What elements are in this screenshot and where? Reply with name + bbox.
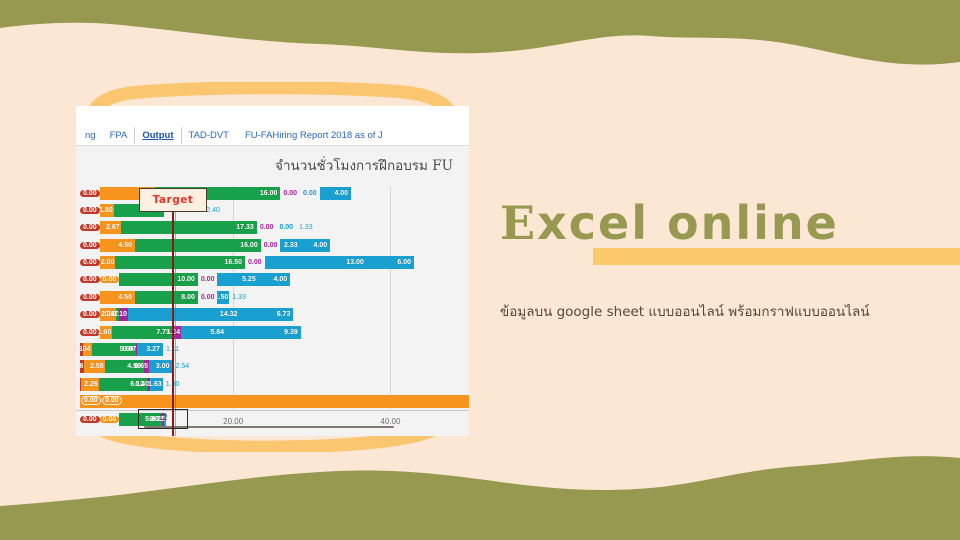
bar-value-label: 0.00 [80, 294, 100, 301]
bar-value-label: 0.00 [80, 242, 100, 249]
bar-segment[interactable] [80, 395, 469, 408]
bar-segment[interactable]: 1.04 [83, 343, 91, 356]
bar-value-label: 0.00 [245, 259, 265, 266]
bar-value-label: 0.00 [80, 190, 100, 197]
bar-segment[interactable]: 10.00 [119, 273, 198, 286]
bar-segment[interactable]: 3.00 [149, 360, 173, 373]
bar-value-label: 0.00 [81, 396, 101, 405]
bar-segment[interactable]: 2.67 [100, 221, 121, 234]
title-highlight-stroke [593, 248, 960, 265]
bar-value-label: 16.50 [225, 259, 246, 266]
bar-segment[interactable]: 3.27 [137, 343, 163, 356]
chart-title: จำนวนชั่วโมงการฝึกอบรม FU [275, 154, 453, 176]
excel-screenshot[interactable]: ng FPA Output TAD-DVT FU-FAHiring Report… [76, 106, 469, 436]
target-line-secondary [175, 212, 176, 436]
bar-value-label: 0.00 [280, 190, 300, 197]
bar-segment[interactable]: 16.00 [135, 239, 261, 252]
chart-bar-row[interactable]: 0.052.266.120.401.631.80 [80, 377, 469, 391]
bar-segment[interactable]: 1.10 [119, 308, 128, 321]
bar-value-label: 4.00 [274, 276, 291, 283]
bar-segment[interactable]: 2.58 [84, 360, 104, 373]
bar-value-label: 0.00 [80, 224, 100, 231]
bar-value-label: 0.00 [198, 276, 218, 283]
bar-segment[interactable]: 17.33 [121, 221, 257, 234]
bar-value-label: 0.00 [100, 276, 120, 283]
target-line [172, 212, 174, 436]
bar-value-label: 5.25 [242, 276, 259, 283]
bar-segment[interactable]: 5.84 [181, 326, 227, 339]
bar-segment[interactable]: 1.63 [150, 378, 163, 391]
bar-segment[interactable]: 7.73 [112, 326, 173, 339]
bar-value-label: 4.50 [118, 294, 135, 301]
sheet-tab-output[interactable]: Output [134, 127, 181, 144]
bar-segment[interactable]: 14.32 [128, 308, 241, 321]
bar-value-label: 6.00 [397, 259, 414, 266]
axis-selection-value: 12 [159, 413, 168, 422]
bar-segment[interactable]: 4.50 [100, 291, 135, 304]
bar-segment[interactable]: 1.50 [217, 291, 229, 304]
bar-segment[interactable]: 16.50 [115, 256, 245, 269]
bar-value-label: 1.50 [215, 294, 232, 301]
bar-segment[interactable]: 4.00 [299, 239, 330, 252]
bar-value-label: 0.00 [102, 396, 122, 405]
sheet-tab-fu-fahiring-report[interactable]: FU-FAHiring Report 2018 as of J [236, 127, 390, 144]
bar-value-label: 0.00 [80, 276, 100, 283]
bar-value-label: 5.84 [210, 329, 227, 336]
bar-value-label: 16.00 [240, 242, 261, 249]
sheet-tab-bar[interactable]: ng FPA Output TAD-DVT FU-FAHiring Report… [76, 125, 469, 146]
bar-value-label: 1.11 [163, 346, 179, 353]
bar-value-label: 10.00 [177, 276, 198, 283]
target-label: Target [153, 194, 194, 206]
axis-selection-box[interactable]: 12 [138, 409, 188, 429]
bar-value-label: 13.00 [346, 259, 367, 266]
bar-value-label: 0.00 [80, 259, 100, 266]
target-callout[interactable]: Target [139, 188, 207, 212]
bar-segment[interactable]: 4.50 [100, 239, 135, 252]
chart-bar-row[interactable]: 0.431.045.690.073.271.11 [80, 343, 469, 357]
window-top-strip [76, 106, 469, 125]
bar-value-label: 9.39 [284, 329, 301, 336]
chart-bar-rows[interactable]: 0.007.0016.000.000.004.000.001.806.400.0… [80, 186, 469, 410]
bar-value-label: 0.00 [80, 311, 100, 318]
bar-segment[interactable]: 6.73 [240, 308, 293, 321]
sheet-tab-tad-dvt[interactable]: TAD-DVT [182, 127, 236, 144]
title-rest: xcel online [537, 196, 839, 250]
right-text-column: Excel online ข้อมูลบน google sheet แบบออ… [500, 200, 950, 322]
page-title: Excel online [500, 200, 839, 246]
bar-value-label: 4.00 [313, 242, 330, 249]
bar-value-label: 0.00 [300, 190, 320, 197]
bar-segment[interactable]: 6.00 [367, 256, 414, 269]
brand-title-wrap: Excel online [500, 200, 839, 246]
bar-value-label: 0.00 [80, 207, 100, 214]
slide-canvas: ng FPA Output TAD-DVT FU-FAHiring Report… [0, 0, 960, 540]
bar-value-label: 4.00 [334, 190, 351, 197]
bar-segment[interactable]: 5.25 [217, 273, 258, 286]
chart-bar-row[interactable]: 0.004.508.000.001.501.33 [80, 290, 469, 304]
bar-value-label: 8.00 [181, 294, 198, 301]
bar-segment[interactable]: 9.39 [227, 326, 301, 339]
chart-bar-row[interactable]: 0.000.00 [80, 395, 469, 409]
bar-segment[interactable]: 4.00 [259, 273, 290, 286]
page-subtitle: ข้อมูลบน google sheet แบบออนไลน์ พร้อมกร… [500, 300, 950, 322]
bar-segment[interactable]: 13.00 [265, 256, 367, 269]
bar-value-label: 0.00 [261, 242, 281, 249]
chart-bar-row[interactable]: 0.002.6717.330.000.001.33 [80, 221, 469, 235]
bar-value-label: 0.00 [257, 224, 277, 231]
sheet-tab-ng[interactable]: ng [78, 127, 103, 144]
bar-segment[interactable]: 1.80 [100, 204, 114, 217]
bar-value-label: 16.00 [260, 190, 281, 197]
chart-bar-row[interactable]: 0.002.0016.500.0013.006.00 [80, 256, 469, 270]
bar-value-label: 3.27 [146, 346, 163, 353]
bar-segment[interactable]: 8.00 [135, 291, 198, 304]
chart-x-axis: 20.0040.00 12 [76, 410, 469, 436]
bar-value-label: 1.33 [229, 294, 246, 301]
chart-plot[interactable]: 0.007.0016.000.000.004.000.001.806.400.0… [76, 186, 469, 410]
x-axis-tick: 20.00 [223, 417, 243, 426]
bar-segment[interactable]: 4.00 [320, 187, 351, 200]
sheet-tab-fpa[interactable]: FPA [103, 127, 135, 144]
bar-segment[interactable]: 1.60 [100, 326, 113, 339]
bar-value-label: 4.50 [118, 242, 135, 249]
chart-bar-row[interactable]: 0.002.030.471.1014.326.73 [80, 308, 469, 322]
chart-bar-row[interactable]: 0.001.607.731.045.849.39 [80, 325, 469, 339]
title-first-letter: E [500, 196, 537, 250]
chart-bar-row[interactable]: 0.000.0010.000.005.254.00 [80, 273, 469, 287]
x-axis-tick: 40.00 [380, 417, 400, 426]
bar-value-label: 0.00 [276, 224, 296, 231]
chart-bar-row[interactable]: 0.004.5016.000.002.334.00 [80, 238, 469, 252]
bar-segment[interactable]: 2.26 [81, 378, 99, 391]
bar-segment[interactable]: 2.33 [280, 239, 298, 252]
bar-value-label: 1.33 [296, 224, 313, 231]
chart-area[interactable]: จำนวนชั่วโมงการฝึกอบรม FU 0.007.0016.000… [76, 146, 469, 436]
bar-value-label: 17.33 [236, 224, 257, 231]
chart-bar-row[interactable]: 0.562.584.990.653.002.54 [80, 360, 469, 374]
bar-value-label: 3.00 [156, 363, 173, 370]
bar-value-label: 6.73 [277, 311, 294, 318]
bar-value-label: 1.63 [148, 381, 165, 388]
bar-segment[interactable]: 2.00 [100, 256, 116, 269]
bar-value-label: 14.32 [220, 311, 241, 318]
